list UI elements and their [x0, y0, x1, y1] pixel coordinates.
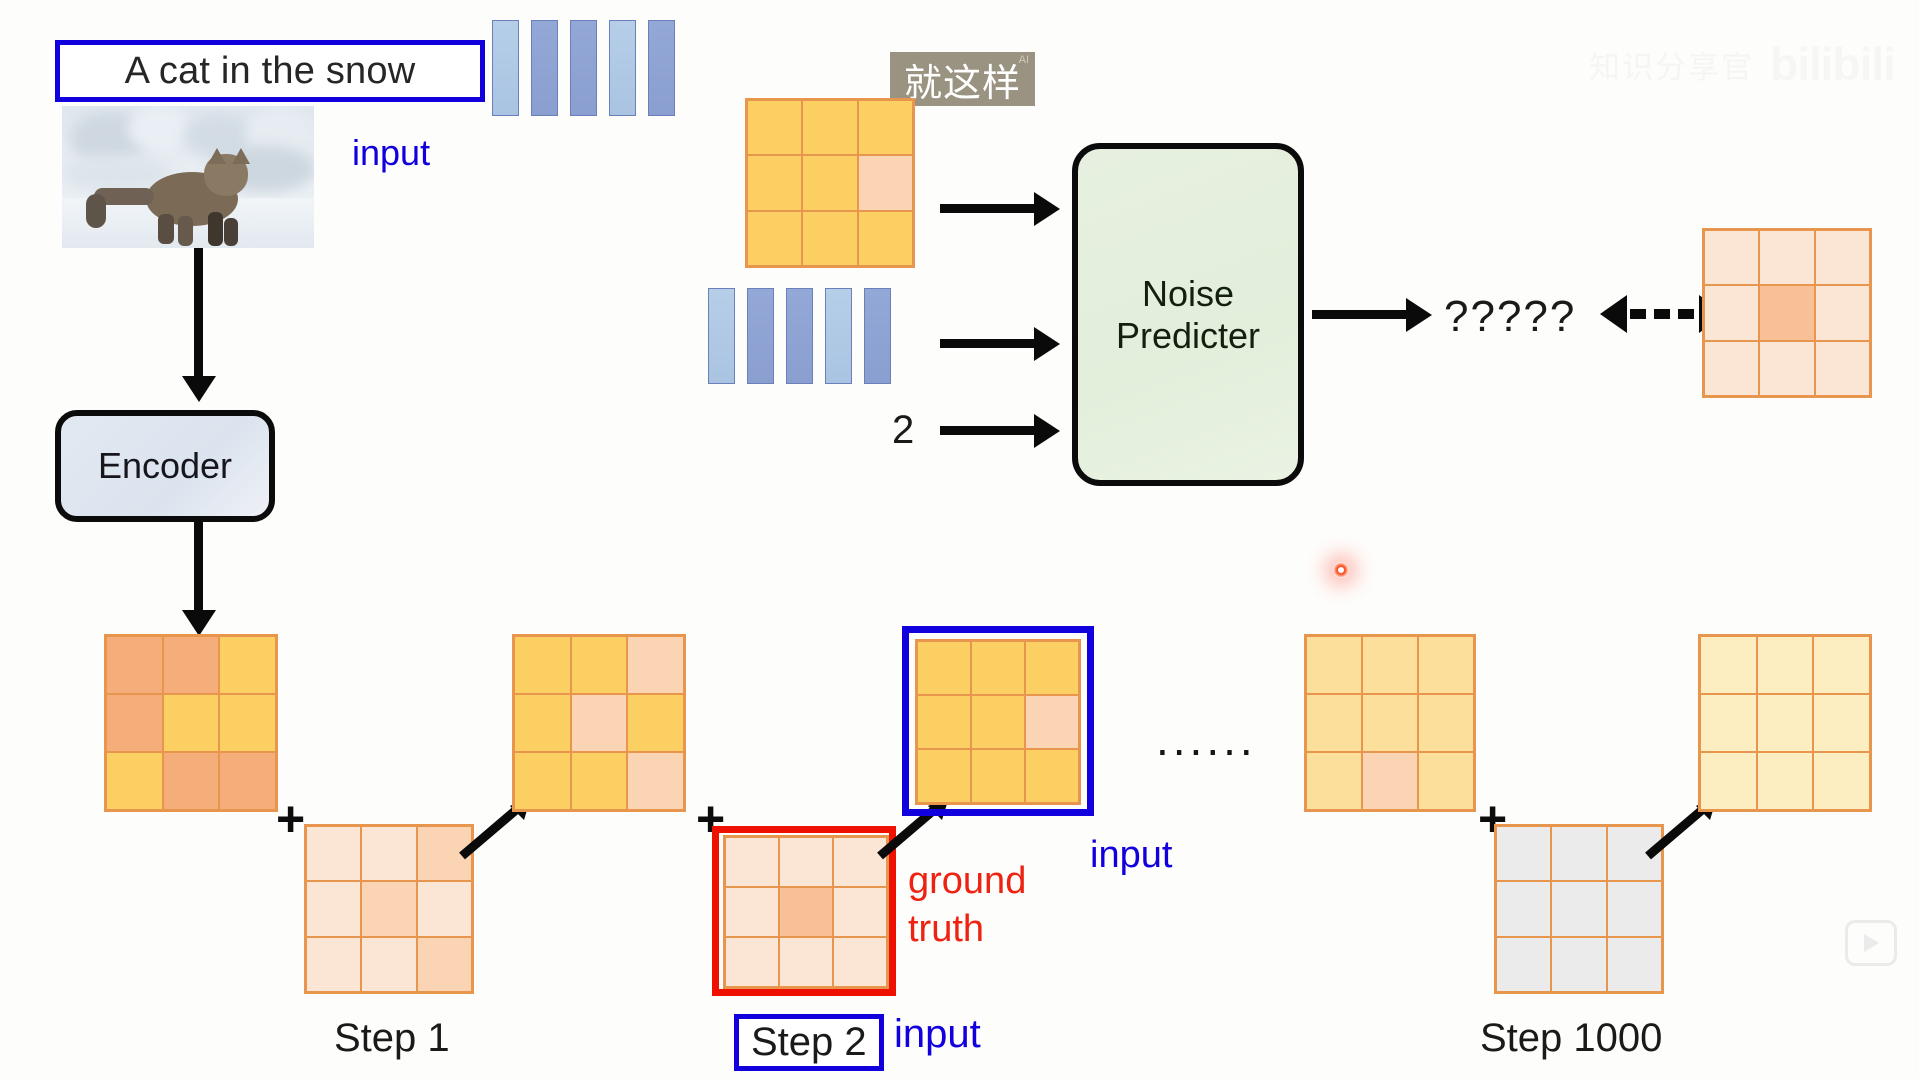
grid-cell-1-2 [219, 694, 276, 752]
grid-cell-2-1 [1759, 341, 1814, 396]
grid-cell-1-0 [106, 694, 163, 752]
grid-cell-0-0 [747, 100, 802, 155]
grid-cell-0-1 [971, 641, 1025, 695]
bilibili-logo: bilibili [1770, 37, 1895, 91]
grid-cell-0-2 [1025, 641, 1079, 695]
grid-noise-step2-ground-truth [723, 835, 889, 989]
step1000-label: Step 1000 [1480, 1016, 1662, 1061]
token-bar [648, 20, 675, 116]
grid-cell-2-1 [571, 752, 628, 810]
grid-cell-2-0 [306, 937, 361, 992]
grid-cell-0-0 [917, 641, 971, 695]
grid-cell-2-0 [514, 752, 571, 810]
token-bar [786, 288, 813, 384]
grid-cell-0-1 [571, 636, 628, 694]
arrow-timestep-to-predicter [940, 412, 1065, 452]
grid-cell-2-2 [627, 752, 684, 810]
grid-cell-0-0 [106, 636, 163, 694]
grid-cell-2-1 [802, 211, 857, 266]
grid-cell-1-1 [802, 155, 857, 210]
subtitle-text: 就这样 [904, 52, 1021, 107]
grid-cell-0-0 [514, 636, 571, 694]
grid-cell-2-1 [779, 937, 833, 987]
grid-noise-step1000 [1494, 824, 1664, 994]
grid-cell-1-1 [361, 881, 416, 936]
grid-cell-2-2 [833, 937, 887, 987]
ai-tag: AI [1019, 54, 1029, 66]
grid-latent-step2 [915, 639, 1081, 805]
laser-dot-icon [1333, 562, 1349, 578]
grid-cell-2-2 [219, 752, 276, 810]
grid-noisy-input-top [745, 98, 915, 268]
grid-cell-1-1 [1362, 694, 1418, 752]
grid-cell-2-0 [725, 937, 779, 987]
grid-cell-0-1 [163, 636, 220, 694]
grid-cell-2-0 [917, 749, 971, 803]
grid-cell-2-2 [417, 937, 472, 992]
noise-predicter-box[interactable]: Noise Predicter [1072, 143, 1304, 486]
grid-cell-1-1 [971, 695, 1025, 749]
grid-cell-0-2 [627, 636, 684, 694]
grid-cell-1-0 [1700, 694, 1757, 752]
text-embedding-bars-top [492, 20, 675, 116]
grid-cell-1-0 [747, 155, 802, 210]
grid-cell-1-0 [306, 881, 361, 936]
grid-cell-2-0 [1306, 752, 1362, 810]
plus-sign-1: + [276, 794, 305, 844]
timestep-label: 2 [892, 408, 914, 453]
grid-cell-1-1 [1551, 881, 1606, 936]
noise-predicter-label-line1: Noise [1116, 273, 1260, 314]
grid-cell-1-1 [1759, 285, 1814, 340]
grid-cell-2-0 [106, 752, 163, 810]
grid-cell-0-0 [1700, 636, 1757, 694]
grid-cell-1-2 [833, 887, 887, 937]
token-bar [609, 20, 636, 116]
text-embedding-bars-middle [708, 288, 891, 384]
grid-latent-step1000 [1698, 634, 1872, 812]
ground-truth-noise-box[interactable] [712, 826, 896, 996]
prompt-text-box[interactable]: A cat in the snow [55, 40, 485, 102]
grid-cell-0-0 [1306, 636, 1362, 694]
diagram-canvas: A cat in the snow input 就这样 AI [0, 0, 1919, 1079]
grid-cell-0-0 [1496, 826, 1551, 881]
token-bar [825, 288, 852, 384]
grid-noise-step1 [304, 824, 474, 994]
token-bar [492, 20, 519, 116]
encoder-box[interactable]: Encoder [55, 410, 275, 522]
grid-cell-0-0 [306, 826, 361, 881]
ellipsis-label: ...... [1156, 712, 1257, 766]
grid-cell-0-1 [1759, 230, 1814, 285]
arrow-encoder-to-latent [180, 522, 220, 642]
arrow-photo-to-encoder [180, 248, 220, 413]
grid-cell-1-2 [1418, 694, 1474, 752]
watermark-chinese-text: 知识分享官 [1589, 42, 1754, 87]
grid-cell-0-1 [1757, 636, 1814, 694]
grid-cell-2-1 [1551, 937, 1606, 992]
unknown-output-label: ????? [1444, 292, 1576, 342]
grid-cell-2-2 [858, 211, 913, 266]
grid-cell-2-2 [1815, 341, 1870, 396]
grid-cell-0-1 [1551, 826, 1606, 881]
ground-truth-label: ground truth [908, 858, 1026, 953]
grid-cell-2-0 [1496, 937, 1551, 992]
grid-latent-step999 [1304, 634, 1476, 812]
grid-cell-2-1 [1757, 752, 1814, 810]
ground-truth-line2: truth [908, 906, 1026, 954]
grid-cell-0-2 [1813, 636, 1870, 694]
token-bar [531, 20, 558, 116]
grid-cell-2-0 [747, 211, 802, 266]
grid-cell-1-2 [1607, 881, 1662, 936]
grid-cell-1-1 [779, 887, 833, 937]
grid-cell-0-2 [219, 636, 276, 694]
grid-cell-0-0 [1704, 230, 1759, 285]
grid-cell-2-0 [1704, 341, 1759, 396]
grid-cell-0-1 [802, 100, 857, 155]
grid-cell-2-2 [1418, 752, 1474, 810]
grid-cell-2-1 [1362, 752, 1418, 810]
input-label-text-encoder: input [352, 132, 430, 174]
cat-photo [62, 106, 314, 248]
grid-cell-1-2 [858, 155, 913, 210]
step2-label: Step 2 [751, 1020, 867, 1064]
grid-predicted-noise-output [1702, 228, 1872, 398]
grid-cell-1-0 [1496, 881, 1551, 936]
step1-label: Step 1 [334, 1016, 450, 1061]
token-bar [708, 288, 735, 384]
grid-cell-2-1 [971, 749, 1025, 803]
grid-cell-1-1 [1757, 694, 1814, 752]
arrow-embedding-to-predicter [940, 325, 1065, 365]
grid-cell-2-1 [163, 752, 220, 810]
grid-cell-0-1 [779, 837, 833, 887]
step2-label-box[interactable]: Step 2 [734, 1014, 884, 1071]
input-label-step2: input [894, 1012, 981, 1057]
grid-cell-1-2 [1025, 695, 1079, 749]
grid-cell-1-2 [1813, 694, 1870, 752]
ground-truth-line1: ground [908, 858, 1026, 906]
input-label-latent-step2: input [1090, 834, 1172, 877]
grid-cell-1-2 [417, 881, 472, 936]
grid-cell-1-0 [1704, 285, 1759, 340]
grid-cell-0-2 [858, 100, 913, 155]
grid-cell-2-2 [1607, 937, 1662, 992]
token-bar [747, 288, 774, 384]
grid-cell-0-1 [361, 826, 416, 881]
grid-cell-1-2 [1815, 285, 1870, 340]
noise-predicter-label-line2: Predicter [1116, 315, 1260, 356]
input-latent-step2-box[interactable] [902, 626, 1094, 816]
prompt-label: A cat in the snow [125, 50, 416, 93]
token-bar [864, 288, 891, 384]
grid-cell-0-1 [1362, 636, 1418, 694]
token-bar [570, 20, 597, 116]
grid-cell-1-0 [917, 695, 971, 749]
grid-cell-2-2 [1813, 752, 1870, 810]
arrow-latent-to-predicter [940, 190, 1065, 230]
grid-cell-1-2 [627, 694, 684, 752]
grid-cell-2-2 [1025, 749, 1079, 803]
grid-cell-0-0 [725, 837, 779, 887]
grid-cell-0-2 [1418, 636, 1474, 694]
grid-cell-2-0 [1700, 752, 1757, 810]
grid-cell-0-2 [1815, 230, 1870, 285]
grid-latent-step0 [104, 634, 278, 812]
bilibili-watermark: 知识分享官 bilibili [1455, 28, 1895, 100]
grid-cell-1-1 [163, 694, 220, 752]
play-icon [1845, 920, 1897, 966]
arrow-predicter-to-output [1312, 296, 1442, 336]
encoder-label: Encoder [98, 445, 232, 486]
grid-latent-step1 [512, 634, 686, 812]
grid-cell-1-1 [571, 694, 628, 752]
grid-cell-2-1 [361, 937, 416, 992]
grid-cell-1-0 [725, 887, 779, 937]
grid-cell-1-0 [514, 694, 571, 752]
grid-cell-1-0 [1306, 694, 1362, 752]
